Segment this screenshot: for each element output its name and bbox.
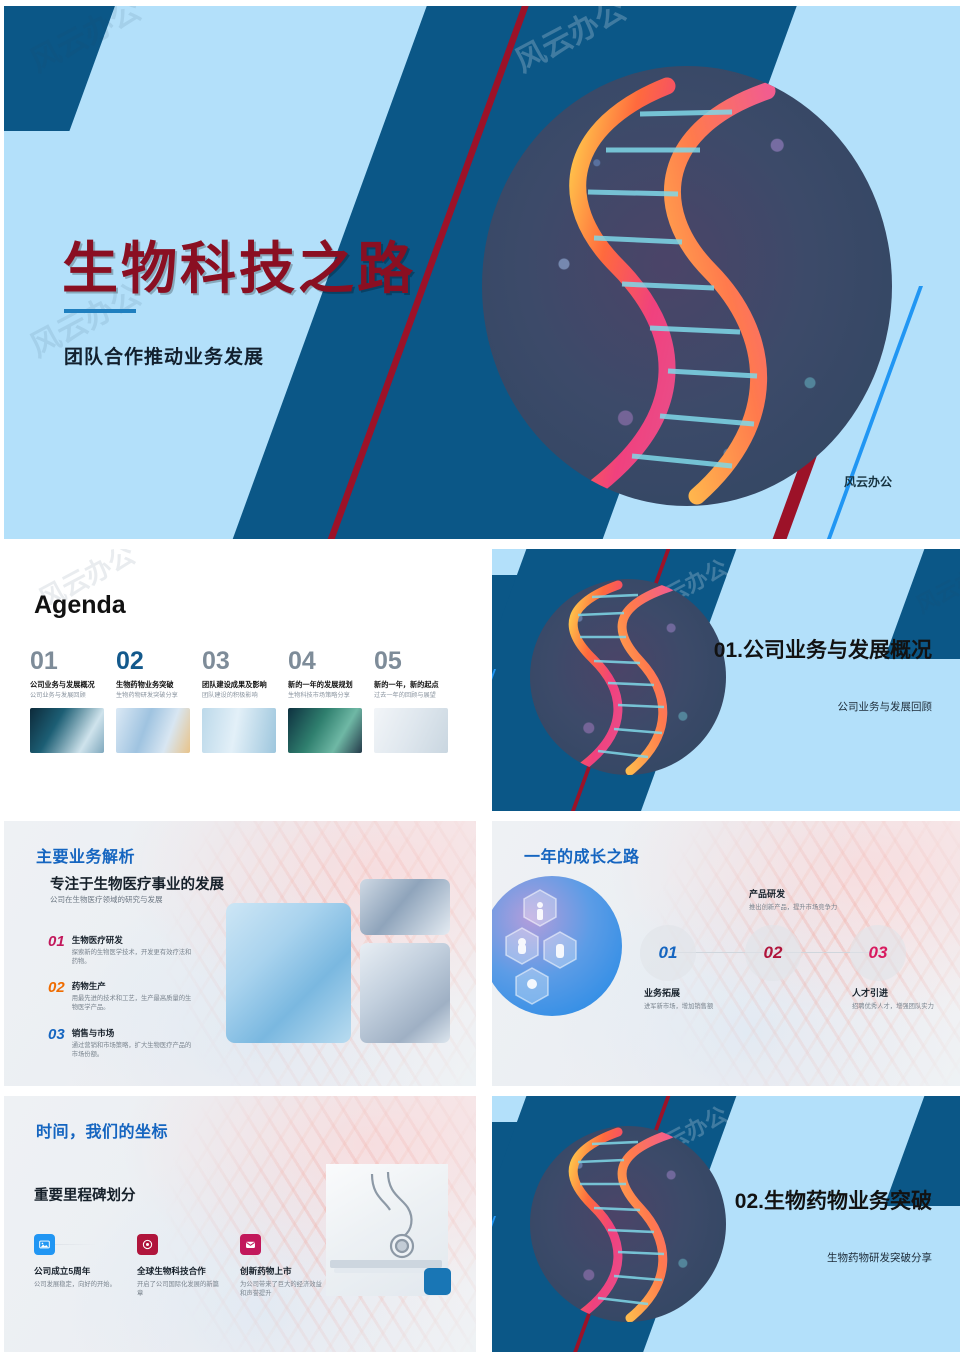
doctor-desk-photo	[374, 708, 448, 753]
mail-icon	[240, 1234, 261, 1255]
agenda-item-number: 02	[116, 649, 202, 674]
business-item[interactable]: 02 药物生产 用最先进的技术和工艺，生产最高质量的生物医学产品。	[48, 980, 203, 1012]
decor-navy-corner	[4, 6, 119, 131]
agenda-item-desc: 生物药物研发突破分享	[116, 692, 178, 700]
page-title: 时间，我们的坐标	[36, 1118, 168, 1142]
milestone-desc: 开启了公司国际化发展的新篇章	[137, 1280, 225, 1298]
agenda-heading: Agenda	[34, 591, 126, 620]
milestone-title: 公司成立5周年	[34, 1265, 134, 1277]
agenda-item[interactable]: 01 公司业务与发展概况 公司业务与发展回顾	[30, 649, 116, 753]
page-title: 生物科技之路	[62, 224, 416, 305]
business-item-desc: 通过营销和市场策略，扩大生物医疗产品的市场份额。	[72, 1041, 195, 1059]
business-item[interactable]: 01 生物医疗研发 探索新的生物医学技术，开发更有效疗法和药物。	[48, 934, 203, 966]
section-heading: 专注于生物医疗事业的发展	[50, 873, 224, 894]
surgery-photo	[288, 708, 362, 753]
section-title: 01.公司业务与发展概况	[712, 637, 932, 665]
agenda-item-desc: 过去一年的回顾与展望	[374, 692, 436, 700]
lab-equipment-photo	[116, 708, 190, 753]
milestone-item[interactable]: 公司成立5周年 公司发展稳定，向好的开始。	[34, 1234, 134, 1289]
section-heading: 重要里程碑划分	[34, 1184, 136, 1205]
laboratory-photo	[360, 943, 450, 1043]
agenda-item-title: 新的一年，新的起点	[374, 680, 460, 689]
milestone-desc: 为公司带来了巨大的经济效益和声誉提升	[240, 1280, 328, 1298]
business-item-desc: 用最先进的技术和工艺，生产最高质量的生物医学产品。	[72, 994, 195, 1012]
growth-label-desc: 招聘优秀人才，增强团队实力	[852, 1002, 960, 1011]
robotic-hand-photo	[202, 708, 276, 753]
business-item[interactable]: 03 销售与市场 通过营销和市场策略，扩大生物医疗产品的市场份额。	[48, 1027, 203, 1059]
agenda-item-desc: 团队建设的积极影响	[202, 692, 264, 700]
growth-label-title: 业务拓展	[644, 986, 754, 999]
slide-title: 风云办公 风云办公 风云办公 风云办公	[4, 6, 960, 539]
agenda-item-title: 团队建设成果及影响	[202, 680, 288, 689]
agenda-list: 01 公司业务与发展概况 公司业务与发展回顾 02 生物药物业务突破 生物药物研…	[30, 649, 460, 753]
growth-node-number: 02	[764, 943, 783, 963]
business-item-number: 03	[48, 1027, 65, 1059]
business-item-number: 01	[48, 934, 65, 966]
slide-deck: 风云办公 风云办公 风云办公 风云办公	[0, 0, 960, 1352]
business-item-number: 02	[48, 980, 65, 1012]
dna-helix-icon	[530, 1126, 726, 1322]
slide-divider-02: 风云办公	[492, 1096, 960, 1352]
slide-business-analysis: 主要业务解析 专注于生物医疗事业的发展 公司在生物医疗领域的研究与发展 01 生…	[4, 821, 476, 1086]
business-item-title: 销售与市场	[72, 1027, 195, 1039]
page-subtitle: 团队合作推动业务发展	[64, 342, 264, 369]
growth-node-number: 01	[659, 943, 678, 963]
growth-label: 人才引进 招聘优秀人才，增强团队实力	[852, 986, 960, 1011]
growth-label-desc: 进军新市场，增加销售额	[644, 1002, 754, 1011]
growth-node[interactable]: 03	[850, 925, 906, 981]
milestone-title: 全球生物科技合作	[137, 1265, 237, 1277]
growth-node[interactable]: 01	[640, 925, 696, 981]
brand-label: 风云办公	[844, 473, 892, 490]
business-item-desc: 探索新的生物医学技术，开发更有效疗法和药物。	[72, 948, 195, 966]
medical-hex-icons	[492, 876, 622, 1016]
handshake-gloves-photo	[360, 879, 450, 935]
slide-milestones: 时间，我们的坐标 重要里程碑划分	[4, 1096, 476, 1352]
milestone-desc: 公司发展稳定，向好的开始。	[34, 1280, 122, 1289]
business-item-list: 01 生物医疗研发 探索新的生物医学技术，开发更有效疗法和药物。 02 药物生产…	[48, 934, 203, 1073]
lab-dna-photo	[30, 708, 104, 753]
business-item-title: 生物医疗研发	[72, 934, 195, 946]
growth-label: 业务拓展 进军新市场，增加销售额	[644, 986, 754, 1011]
dna-helix-icon	[482, 66, 892, 506]
section-subtitle: 公司业务与发展回顾	[702, 699, 932, 714]
agenda-item-number: 04	[288, 649, 374, 674]
slide-divider-01: 风云办公 风云办公	[492, 549, 960, 811]
target-icon	[137, 1234, 158, 1255]
slide-growth-path: 一年的成长之路 01	[492, 821, 960, 1086]
agenda-item[interactable]: 02 生物药物业务突破 生物药物研发突破分享	[116, 649, 202, 753]
milestone-item[interactable]: 创新药物上市 为公司带来了巨大的经济效益和声誉提升	[240, 1234, 340, 1298]
section-subheading: 公司在生物医疗领域的研究与发展	[50, 894, 163, 905]
image-icon	[34, 1234, 55, 1255]
growth-node[interactable]: 02	[745, 925, 801, 981]
slide-agenda: 风云办公 Agenda 01 公司业务与发展概况 公司业务与发展回顾 02 生物…	[4, 549, 476, 811]
agenda-item-number: 05	[374, 649, 460, 674]
dna-helix-icon	[530, 579, 726, 775]
agenda-item-title: 公司业务与发展概况	[30, 680, 116, 689]
milestone-title: 创新药物上市	[240, 1265, 340, 1277]
agenda-item-number: 03	[202, 649, 288, 674]
agenda-item[interactable]: 04 新的一年的发展规划 生物科技市场策略分享	[288, 649, 374, 753]
agenda-item[interactable]: 03 团队建设成果及影响 团队建设的积极影响	[202, 649, 288, 753]
growth-label-title: 人才引进	[852, 986, 960, 999]
page-title: 主要业务解析	[36, 843, 135, 867]
robotic-hand-photo	[226, 903, 351, 1043]
agenda-item-desc: 公司业务与发展回顾	[30, 692, 92, 700]
agenda-item-title: 生物药物业务突破	[116, 680, 202, 689]
milestone-item[interactable]: 全球生物科技合作 开启了公司国际化发展的新篇章	[137, 1234, 237, 1298]
page-title: 一年的成长之路	[524, 843, 640, 867]
section-title: 02.生物药物业务突破	[712, 1188, 932, 1216]
decor-blue-square	[424, 1268, 451, 1295]
growth-label-title: 产品研发	[749, 887, 859, 900]
growth-node-number: 03	[869, 943, 888, 963]
growth-label-desc: 推出创新产品，提升市场竞争力	[749, 903, 859, 912]
business-item-title: 药物生产	[72, 980, 195, 992]
agenda-item-desc: 生物科技市场策略分享	[288, 692, 350, 700]
section-subtitle: 生物药物研发突破分享	[702, 1250, 932, 1265]
agenda-item[interactable]: 05 新的一年，新的起点 过去一年的回顾与展望	[374, 649, 460, 753]
agenda-item-title: 新的一年的发展规划	[288, 680, 374, 689]
agenda-item-number: 01	[30, 649, 116, 674]
title-rule	[64, 309, 136, 313]
growth-label: 产品研发 推出创新产品，提升市场竞争力	[749, 887, 859, 912]
